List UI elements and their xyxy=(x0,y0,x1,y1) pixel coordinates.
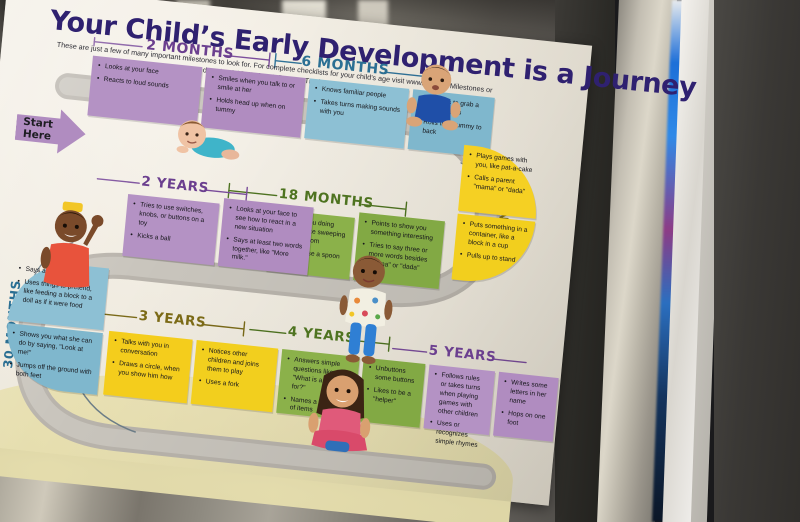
child-photo-18-months xyxy=(329,248,402,372)
milestone-item: Shows you what she can do by saying, "Lo… xyxy=(10,330,95,365)
milestone-item: Calls a parent "mama" or "dada" xyxy=(466,173,532,197)
milestone-card-5-years-b: Writes some letters in her name Hops on … xyxy=(493,372,559,442)
milestone-card-5-years-a: Follows rules or takes turns when playin… xyxy=(423,364,495,435)
milestone-card-2-years-b: Looks at your face to see how to react i… xyxy=(218,198,314,275)
milestone-item: Tries to use switches, knobs, or buttons… xyxy=(131,201,212,236)
start-here-label: Start Here xyxy=(15,115,60,144)
child-photo-6-months xyxy=(403,59,466,143)
screenshot-scene: Your Child’s Early Development is a Jour… xyxy=(0,0,800,522)
milestone-item: Writes some letters in her name xyxy=(502,378,551,409)
milestone-card-6-months-a: Knows familiar people Takes turns making… xyxy=(304,78,409,148)
milestone-card-2-years-a: Tries to use switches, knobs, or buttons… xyxy=(122,194,219,265)
child-photo-4-years xyxy=(301,364,381,457)
milestone-item: Puts something in a container, like a bl… xyxy=(461,220,528,253)
cdc-milestone-poster: Your Child’s Early Development is a Jour… xyxy=(0,0,592,506)
milestone-card-3-years-b: Notices other children and joins them to… xyxy=(191,340,279,412)
milestone-item: Uses or recognizes simple rhymes xyxy=(428,419,483,451)
milestone-item: Takes turns making sounds with you xyxy=(312,98,400,125)
milestone-item: Follows rules or takes turns when playin… xyxy=(431,371,488,421)
milestone-item: Points to show you something interesting xyxy=(363,219,437,244)
milestone-item: Uses a fork xyxy=(198,377,267,393)
milestone-item: Pulls up to stand xyxy=(459,251,524,267)
refrigerator-side-panel xyxy=(714,0,800,522)
milestone-item: Talks with you in conversation xyxy=(113,337,185,362)
milestone-item: Notices other children and joins them to… xyxy=(200,347,271,381)
child-photo-30-months xyxy=(35,197,105,295)
milestone-item: Says at least two words together, like "… xyxy=(224,235,303,270)
milestone-item: Hops on one foot xyxy=(500,409,548,432)
milestone-card-3-years-a: Talks with you in conversation Draws a c… xyxy=(103,331,193,403)
child-photo-2-months xyxy=(168,110,244,163)
milestone-item: Draws a circle, when you show him how xyxy=(111,359,183,384)
milestone-item: Looks at your face to see how to react i… xyxy=(227,205,306,240)
